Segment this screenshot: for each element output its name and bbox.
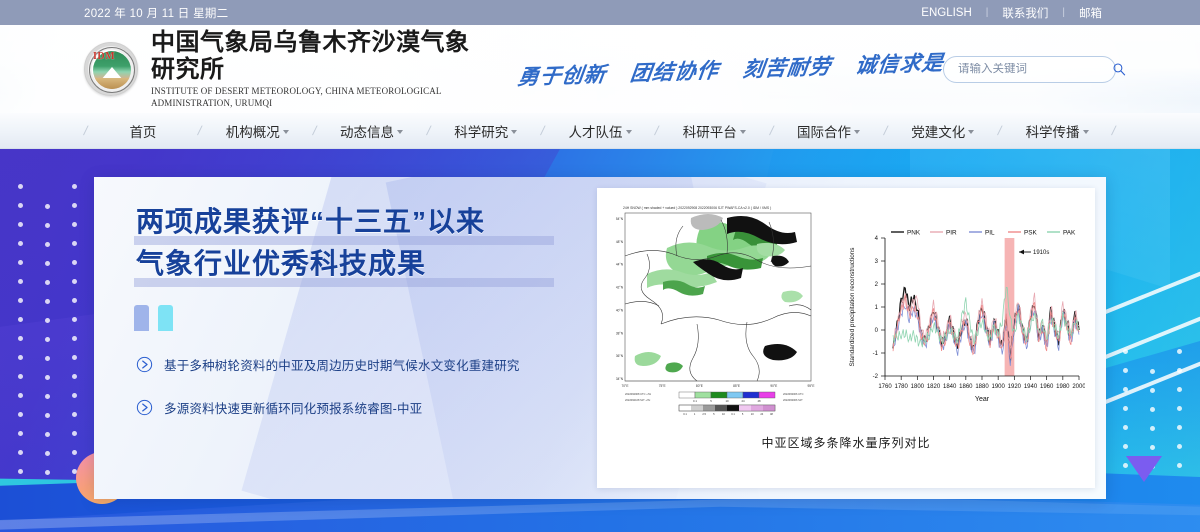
search-box[interactable] — [943, 56, 1116, 83]
x-tick-label: 2000 — [1072, 384, 1085, 390]
decor-dot — [18, 317, 23, 322]
decor-dot — [1123, 444, 1128, 449]
decor-dot — [1177, 368, 1182, 373]
nav-item-8[interactable]: 科学传播 — [1002, 121, 1113, 141]
decor-dot — [72, 241, 77, 246]
banner-text-column: 两项成果获评“十三五”以来 气象行业优秀科技成果 基于多种树轮资料的中亚及周边历… — [94, 177, 594, 499]
decor-dot — [1177, 349, 1182, 354]
nav-item-label: 科学传播 — [1026, 121, 1080, 141]
x-tick-label: 1760 — [878, 384, 892, 390]
arrow-right-circle-icon — [136, 356, 153, 373]
english-link[interactable]: ENGLISH — [907, 7, 986, 19]
chevron-down-icon — [968, 130, 974, 134]
x-tick-label: 1780 — [894, 384, 908, 390]
decor-dot — [45, 356, 50, 361]
decor-dot — [1150, 388, 1155, 393]
decor-dot — [72, 203, 77, 208]
x-tick-label: 1880 — [975, 384, 989, 390]
map-footnote: 2022093006 UTC — [783, 392, 804, 396]
decor-dot — [1150, 369, 1155, 374]
map-x-tick: 75°E — [659, 384, 666, 388]
decor-dot — [1177, 444, 1182, 449]
decor-dot — [18, 222, 23, 227]
precipitation-reconstruction-chart: PNKPIRPILPSKPAK 1910s 176017801800182018… — [841, 196, 1085, 428]
decor-dot — [18, 355, 23, 360]
decor-dot — [45, 242, 50, 247]
decor-dot — [72, 412, 77, 417]
nav-item-1[interactable]: 机构概况 — [202, 121, 313, 141]
nav-item-label: 党建文化 — [911, 121, 965, 141]
map-y-tick: 34°N — [616, 377, 624, 381]
chevron-down-icon — [854, 130, 860, 134]
banner-bullet-1[interactable]: 多源资料快速更新循环同化预报系统睿图-中亚 — [136, 398, 556, 417]
site-title-en-line1: INSTITUTE OF DESERT METEOROLOGY, CHINA M… — [151, 86, 479, 98]
decor-dot — [1123, 406, 1128, 411]
nav-item-5[interactable]: 科研平台 — [659, 121, 770, 141]
decor-dot — [18, 469, 23, 474]
decor-dot — [18, 241, 23, 246]
slogan-phrase-3: 刻苦耐劳 — [741, 51, 833, 84]
x-tick-label: 1820 — [927, 384, 941, 390]
legend-label-PSK: PSK — [1024, 229, 1038, 236]
colorbar-upper-tick: 48 — [757, 399, 761, 403]
decor-dot — [1150, 407, 1155, 412]
decor-dot — [45, 413, 50, 418]
decor-dot — [1177, 387, 1182, 392]
decor-dot — [45, 204, 50, 209]
decor-dot — [72, 184, 77, 189]
decor-dot — [1177, 406, 1182, 411]
main-navigation: /首页/机构概况/动态信息/科学研究/人才队伍/科研平台/国际合作/党建文化/科… — [0, 113, 1200, 149]
nav-item-2[interactable]: 动态信息 — [316, 121, 427, 141]
map-y-tick: 54°N — [616, 217, 624, 221]
map-y-tick: 40°N — [616, 308, 624, 312]
banner-bullet-label: 多源资料快速更新循环同化预报系统睿图-中亚 — [164, 398, 422, 417]
map-footnote: 2022093006 SJT — [783, 398, 803, 402]
slogan-phrase-2: 团结协作 — [629, 54, 721, 87]
banner-slide[interactable]: 两项成果获评“十三五”以来 气象行业优秀科技成果 基于多种树轮资料的中亚及周边历… — [94, 177, 1106, 499]
institute-slogan: 勇于创新 团结协作 刻苦耐劳 诚信求是 — [516, 47, 946, 92]
decor-dot — [18, 393, 23, 398]
chevron-down-icon — [511, 130, 517, 134]
map-y-tick: 44°N — [616, 263, 624, 267]
site-title-block: 中国气象局乌鲁木齐沙漠气象研究所 INSTITUTE OF DESERT MET… — [151, 29, 479, 110]
institute-emblem-icon: IDM — [84, 42, 138, 96]
figure-row: 24H SNOW ( mm shaded + valued ) 20220929… — [607, 196, 1085, 428]
x-tick-label: 1960 — [1040, 384, 1054, 390]
decor-dot — [18, 279, 23, 284]
decor-dot — [1123, 349, 1128, 354]
decor-dot — [72, 431, 77, 436]
site-title-cn: 中国气象局乌鲁木齐沙漠气象研究所 — [151, 29, 479, 84]
decor-dot — [45, 432, 50, 437]
top-bar: 2022 年 10 月 11 日 星期二 ENGLISH | 联系我们 | 邮箱 — [0, 0, 1200, 25]
line-chart-svg: PNKPIRPILPSKPAK 1910s 176017801800182018… — [841, 196, 1085, 428]
decor-triangle-purple — [1126, 456, 1162, 482]
decor-dot — [72, 317, 77, 322]
slogan-phrase-1: 勇于创新 — [516, 58, 608, 91]
figure-caption: 中亚区域多条降水量序列对比 — [607, 434, 1085, 451]
quote-glyph-left — [134, 305, 149, 331]
y-tick-label: -1 — [873, 351, 879, 357]
decor-dot — [18, 260, 23, 265]
map-y-tick: 38°N — [616, 331, 624, 335]
chevron-down-icon — [283, 130, 289, 134]
decor-dot — [1150, 426, 1155, 431]
map-x-tick: 70°E — [622, 384, 629, 388]
chevron-down-icon — [1083, 130, 1089, 134]
decor-dot — [1177, 463, 1182, 468]
colorbar-lower-tick: 0.1 — [683, 412, 687, 416]
map-y-tick: 36°N — [616, 354, 624, 358]
legend-label-PIL: PIL — [985, 229, 995, 236]
contact-link[interactable]: 联系我们 — [988, 5, 1062, 21]
decor-dot — [18, 450, 23, 455]
decor-dot — [1123, 425, 1128, 430]
decor-dot — [45, 261, 50, 266]
decor-dot — [45, 299, 50, 304]
map-footnote: 2022092108 SJT +7H — [625, 398, 650, 402]
decor-dot — [72, 222, 77, 227]
map-x-tick: 80°E — [696, 384, 703, 388]
decor-dot — [1150, 445, 1155, 450]
decor-dot — [18, 184, 23, 189]
nav-list: /首页/机构概况/动态信息/科学研究/人才队伍/科研平台/国际合作/党建文化/科… — [84, 121, 1116, 141]
decor-dot — [72, 450, 77, 455]
chevron-down-icon — [740, 130, 746, 134]
mail-link[interactable]: 邮箱 — [1065, 5, 1116, 21]
nav-item-label: 科研平台 — [683, 121, 737, 141]
chevron-down-icon — [397, 130, 403, 134]
decor-dot — [45, 470, 50, 475]
nav-item-4[interactable]: 人才队伍 — [545, 121, 656, 141]
x-tick-label: 1900 — [991, 384, 1005, 390]
legend-label-PAK: PAK — [1063, 229, 1076, 236]
decor-dot — [45, 337, 50, 342]
search-icon[interactable] — [1112, 62, 1126, 76]
decor-dot — [45, 318, 50, 323]
banner-bullet-list: 基于多种树轮资料的中亚及周边历史时期气候水文变化重建研究多源资料快速更新循环同化… — [136, 355, 556, 441]
decor-dot — [18, 431, 23, 436]
decor-dot — [18, 336, 23, 341]
map-y-tick: 42°N — [616, 286, 624, 290]
map-title-text: 24H SNOW ( mm shaded + valued ) 20220929… — [623, 206, 771, 210]
site-title-en-line2: ADMINISTRATION, URUMQI — [151, 98, 479, 110]
hero-banner: 两项成果获评“十三五”以来 气象行业优秀科技成果 基于多种树轮资料的中亚及周边历… — [0, 149, 1200, 532]
map-footnote: 2022092908 UTC +7H — [625, 392, 651, 396]
topbar-links: ENGLISH | 联系我们 | 邮箱 — [907, 5, 1116, 21]
decor-dot — [45, 394, 50, 399]
colorbar-lower-tick: 0.1 — [731, 412, 735, 416]
annotation-label: 1910s — [1033, 250, 1049, 256]
decor-dot — [18, 412, 23, 417]
y-axis-label: Standardized precipitation reconstructio… — [849, 247, 856, 366]
decor-dot — [72, 279, 77, 284]
decor-dot — [1123, 368, 1128, 373]
nav-item-label: 科学研究 — [454, 121, 508, 141]
decor-dot — [72, 336, 77, 341]
site-logo[interactable]: IDM 中国气象局乌鲁木齐沙漠气象研究所 INSTITUTE OF DESERT… — [84, 29, 479, 110]
legend-label-PNK: PNK — [907, 229, 921, 236]
decor-dot — [1177, 425, 1182, 430]
precipitation-map-chart: 24H SNOW ( mm shaded + valued ) 20220929… — [607, 196, 839, 428]
x-tick-label: 1800 — [911, 384, 925, 390]
quote-mark-icon — [134, 305, 173, 331]
decor-dot — [72, 393, 77, 398]
nav-item-label: 动态信息 — [340, 121, 394, 141]
x-tick-label: 1980 — [1056, 384, 1070, 390]
nav-item-3[interactable]: 科学研究 — [430, 121, 541, 141]
nav-item-label: 国际合作 — [797, 121, 851, 141]
emblem-text: IDM — [85, 51, 123, 62]
decor-dot — [45, 375, 50, 380]
current-date: 2022 年 10 月 11 日 星期二 — [84, 5, 228, 21]
map-x-tick: 95°E — [808, 384, 815, 388]
quote-glyph-right — [158, 305, 173, 331]
x-tick-label: 1860 — [959, 384, 973, 390]
site-title-en: INSTITUTE OF DESERT METEOROLOGY, CHINA M… — [151, 86, 479, 110]
map-y-tick: 48°N — [616, 240, 624, 244]
decor-dot — [1123, 387, 1128, 392]
colorbar-lower-tick: 2.5 — [702, 412, 706, 416]
decor-dot — [45, 451, 50, 456]
nav-item-label: 机构概况 — [226, 121, 280, 141]
decor-dot — [45, 280, 50, 285]
nav-item-label: 首页 — [129, 121, 156, 141]
colorbar-upper-tick: 0.1 — [693, 399, 697, 403]
decor-dot — [72, 355, 77, 360]
headline-line-1: 两项成果获评“十三五”以来 — [136, 202, 556, 244]
map-x-tick: 85°E — [733, 384, 740, 388]
banner-figure-card[interactable]: 24H SNOW ( mm shaded + valued ) 20220929… — [597, 188, 1095, 488]
x-tick-label: 1840 — [943, 384, 957, 390]
decor-dot — [18, 203, 23, 208]
x-tick-label: 1920 — [1008, 384, 1022, 390]
decor-dot — [72, 374, 77, 379]
decor-dot — [18, 298, 23, 303]
nav-item-6[interactable]: 国际合作 — [773, 121, 884, 141]
site-header: IDM 中国气象局乌鲁木齐沙漠气象研究所 INSTITUTE OF DESERT… — [0, 25, 1200, 113]
chevron-down-icon — [626, 130, 632, 134]
nav-item-7[interactable]: 党建文化 — [887, 121, 998, 141]
decor-dot — [72, 260, 77, 265]
map-svg: 24H SNOW ( mm shaded + valued ) 20220929… — [607, 196, 839, 428]
banner-headline: 两项成果获评“十三五”以来 气象行业优秀科技成果 — [136, 202, 556, 286]
arrow-right-circle-icon — [136, 399, 153, 416]
colorbar-upper-tick: 24 — [741, 399, 745, 403]
x-axis-label: Year — [975, 396, 990, 403]
slogan-phrase-4: 诚信求是 — [854, 47, 946, 80]
decor-dot — [18, 374, 23, 379]
x-tick-label: 1940 — [1024, 384, 1038, 390]
decor-dot — [72, 298, 77, 303]
colorbar-upper-tick: 10 — [725, 399, 729, 403]
legend-label-PIR: PIR — [946, 229, 957, 236]
y-tick-label: -2 — [873, 374, 879, 380]
decor-dot — [45, 223, 50, 228]
banner-bullet-0[interactable]: 基于多种树轮资料的中亚及周边历史时期气候水文变化重建研究 — [136, 355, 556, 374]
headline-line-2: 气象行业优秀科技成果 — [136, 244, 556, 286]
map-x-tick: 90°E — [770, 384, 777, 388]
nav-item-0[interactable]: 首页 — [88, 121, 199, 141]
banner-bullet-label: 基于多种树轮资料的中亚及周边历史时期气候水文变化重建研究 — [164, 355, 520, 374]
nav-item-label: 人才队伍 — [569, 121, 623, 141]
search-input[interactable] — [958, 63, 1112, 75]
